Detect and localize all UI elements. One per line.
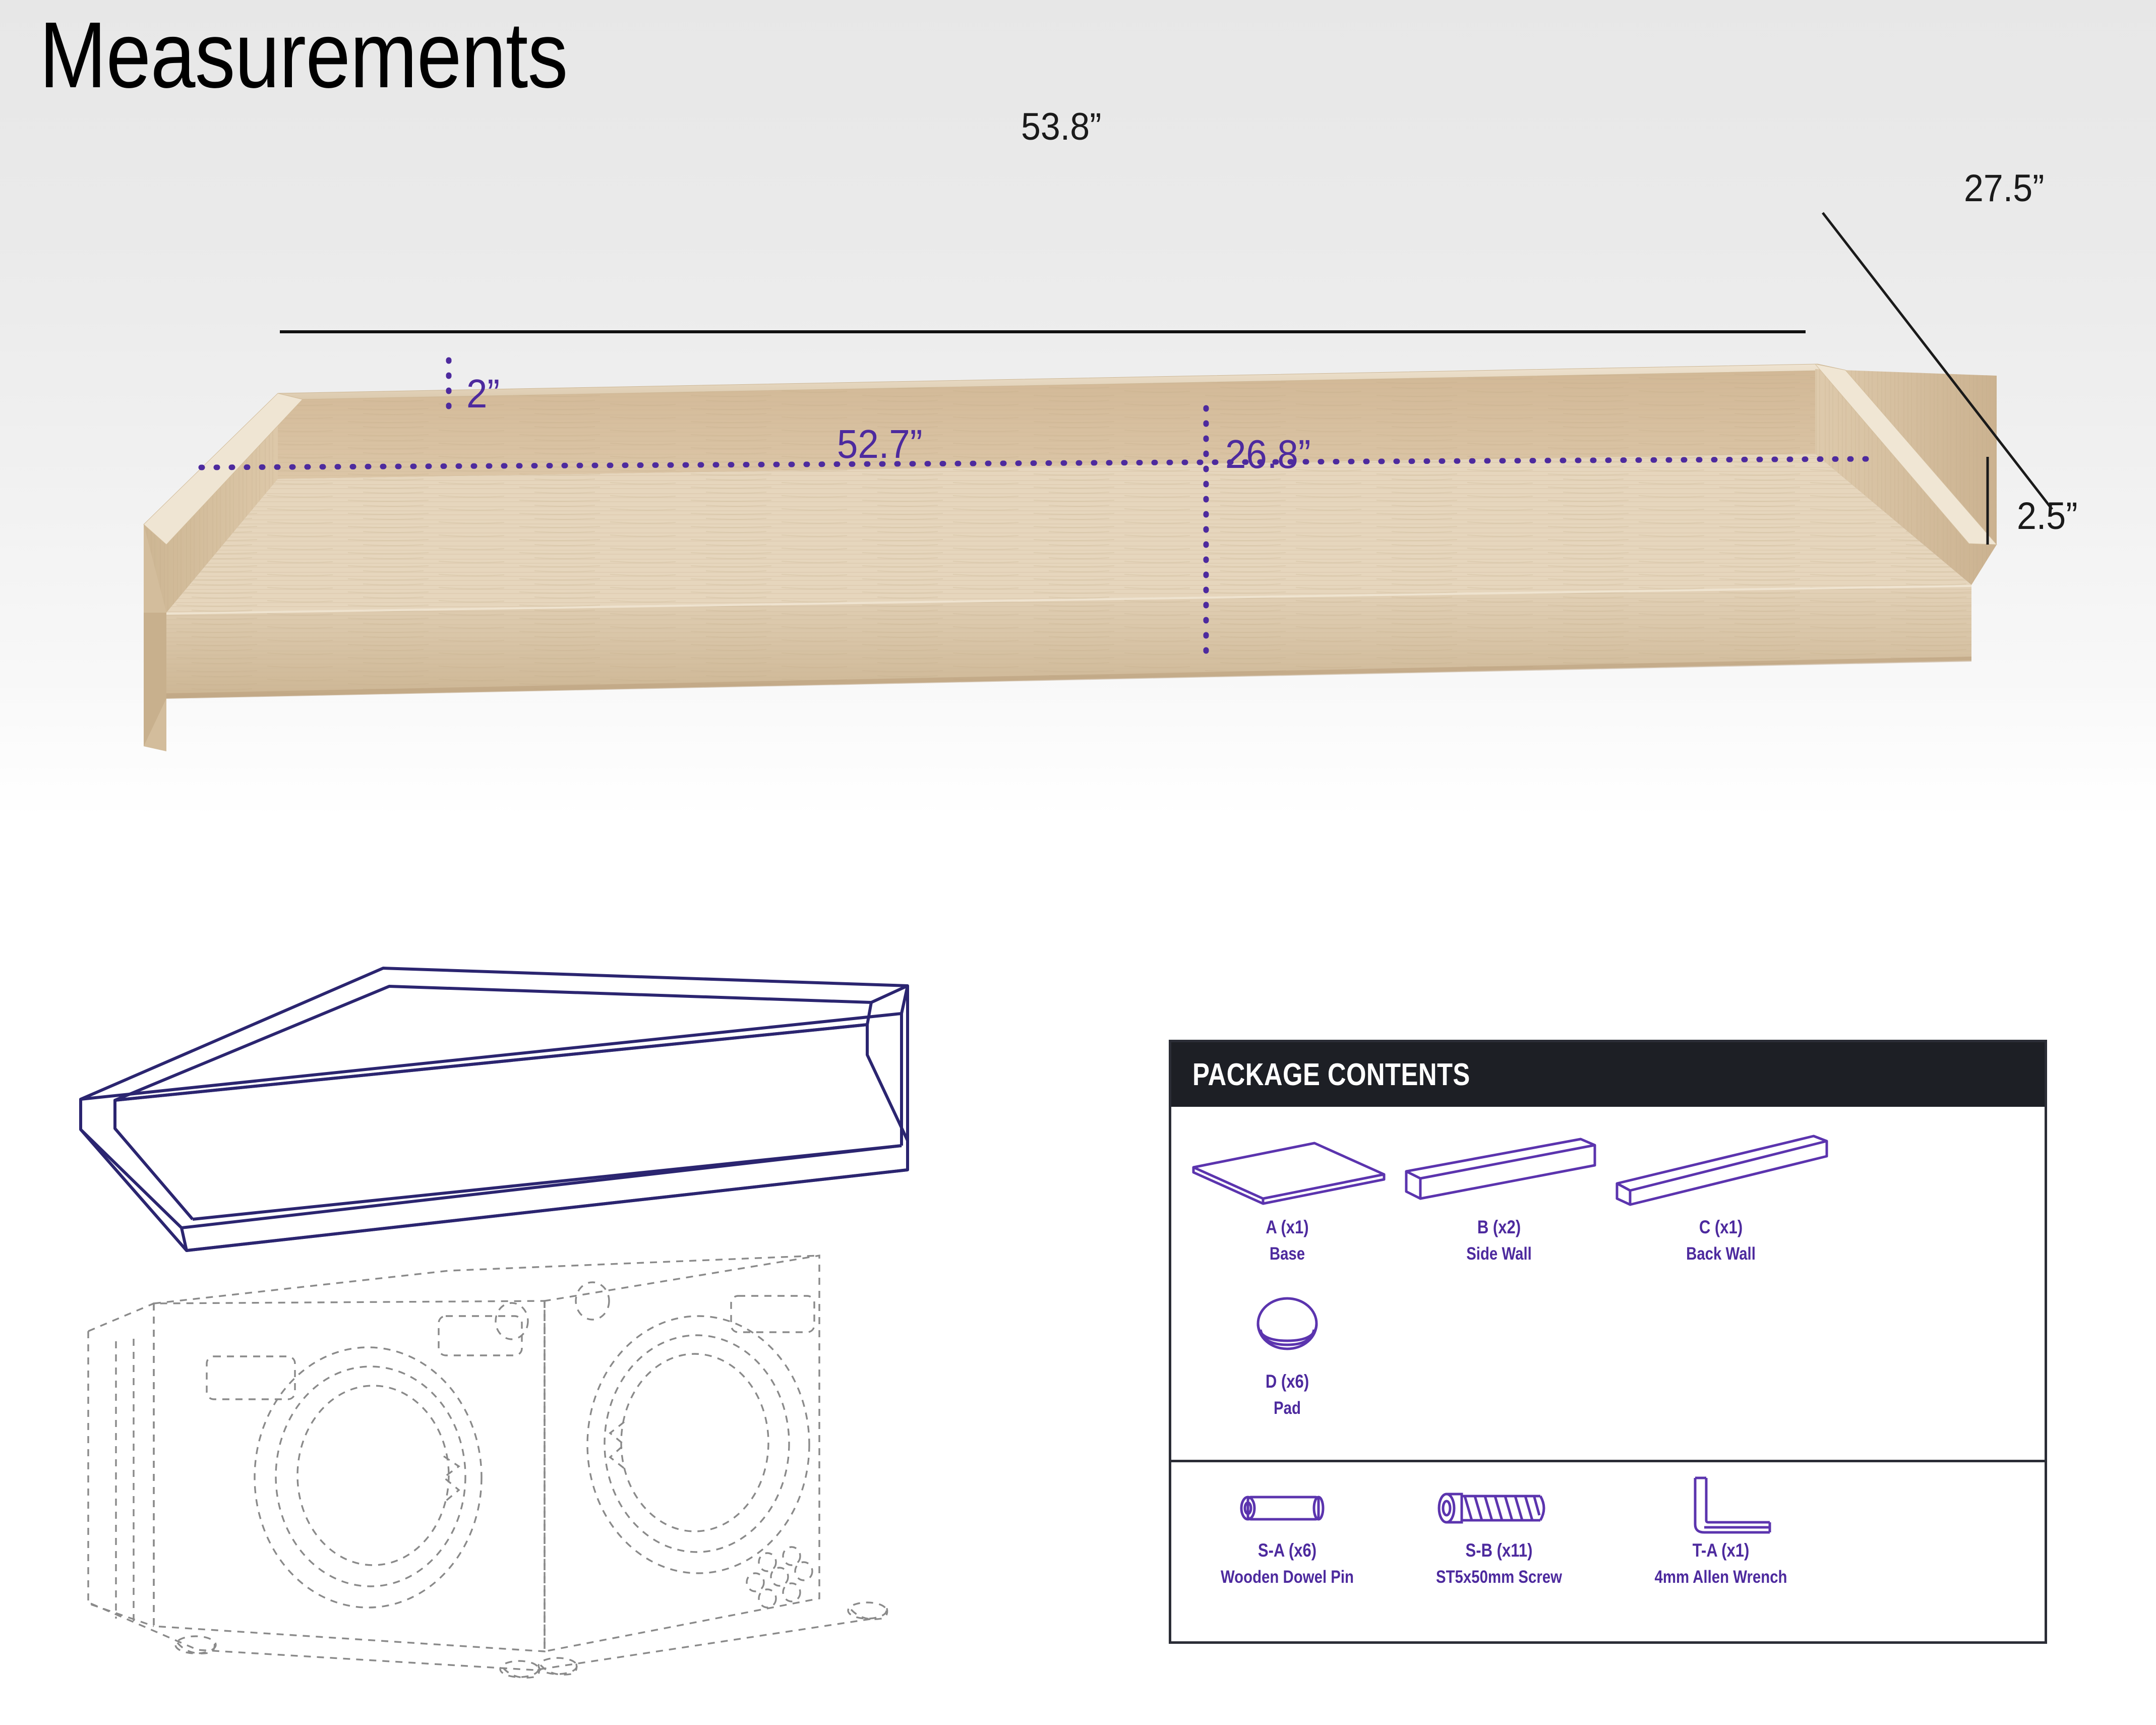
- dimension-label-thickness: 2.5”: [2017, 494, 2077, 538]
- part-item-ta[interactable]: T-A (x1) 4mm Allen Wrench: [1605, 1476, 1837, 1587]
- part-item-c[interactable]: C (x1) Back Wall: [1605, 1128, 1837, 1264]
- part-name-sa: Wooden Dowel Pin: [1199, 1567, 1376, 1587]
- part-code-ta: T-A (x1): [1624, 1540, 1818, 1561]
- dowel-pin-icon: [1181, 1476, 1393, 1537]
- part-code-c: C (x1): [1624, 1217, 1818, 1238]
- part-name-ta: 4mm Allen Wrench: [1624, 1567, 1818, 1587]
- round-pad-icon: [1181, 1292, 1393, 1368]
- part-name-c: Back Wall: [1624, 1244, 1818, 1264]
- part-item-d[interactable]: D (x6) Pad: [1181, 1292, 1393, 1418]
- appliance-outline: [88, 1256, 887, 1678]
- package-contents-hardware-section: S-A (x6) Wooden Dowel Pin S-B (x11): [1171, 1462, 2045, 1644]
- allen-wrench-icon: [1605, 1476, 1837, 1537]
- side-wall-icon: [1393, 1128, 1605, 1214]
- part-name-sb: ST5x50mm Screw: [1410, 1567, 1588, 1587]
- package-contents-header: PACKAGE CONTENTS: [1171, 1042, 2045, 1107]
- part-code-a: A (x1): [1199, 1217, 1376, 1238]
- dimension-line-thickness: [1982, 454, 2012, 555]
- part-name-b: Side Wall: [1410, 1244, 1588, 1264]
- dimension-label-depth: 27.5”: [1964, 166, 2044, 210]
- package-contents-boards-section: A (x1) Base B (x2) Side Wall: [1171, 1107, 2045, 1460]
- part-code-sa: S-A (x6): [1199, 1540, 1376, 1561]
- assembly-diagram: [61, 948, 993, 1679]
- part-item-b[interactable]: B (x2) Side Wall: [1393, 1128, 1605, 1264]
- part-code-d: D (x6): [1199, 1371, 1376, 1392]
- dimension-line-inner-width: [199, 456, 1878, 477]
- part-name-a: Base: [1199, 1244, 1376, 1264]
- part-code-sb: S-B (x11): [1410, 1540, 1588, 1561]
- shelf-tray-outline: [81, 968, 908, 1251]
- part-item-sb[interactable]: S-B (x11) ST5x50mm Screw: [1393, 1476, 1605, 1587]
- screw-icon: [1393, 1476, 1605, 1537]
- dimension-line-width: [280, 330, 1806, 333]
- dimension-line-wall-height: [444, 358, 464, 424]
- page-title: Measurements: [39, 6, 568, 104]
- package-contents-panel: PACKAGE CONTENTS A (x1) Base: [1169, 1040, 2047, 1644]
- flat-panel-icon: [1181, 1128, 1393, 1214]
- part-code-b: B (x2): [1410, 1217, 1588, 1238]
- dimension-line-inner-depth: [1200, 406, 1220, 668]
- part-name-d: Pad: [1199, 1398, 1376, 1418]
- part-item-a[interactable]: A (x1) Base: [1181, 1128, 1393, 1264]
- dimension-label-width: 53.8”: [1021, 105, 1101, 149]
- hero-product-illustration: 53.8” 27.5” 2.5” 2” 26.8” 52.7”: [0, 242, 2156, 807]
- dimension-label-wall-height: 2”: [466, 371, 500, 417]
- back-wall-icon: [1605, 1128, 1837, 1214]
- package-contents-title: PACKAGE CONTENTS: [1192, 1057, 1470, 1093]
- part-item-sa[interactable]: S-A (x6) Wooden Dowel Pin: [1181, 1476, 1393, 1587]
- dimension-label-inner-width: 52.7”: [837, 421, 923, 467]
